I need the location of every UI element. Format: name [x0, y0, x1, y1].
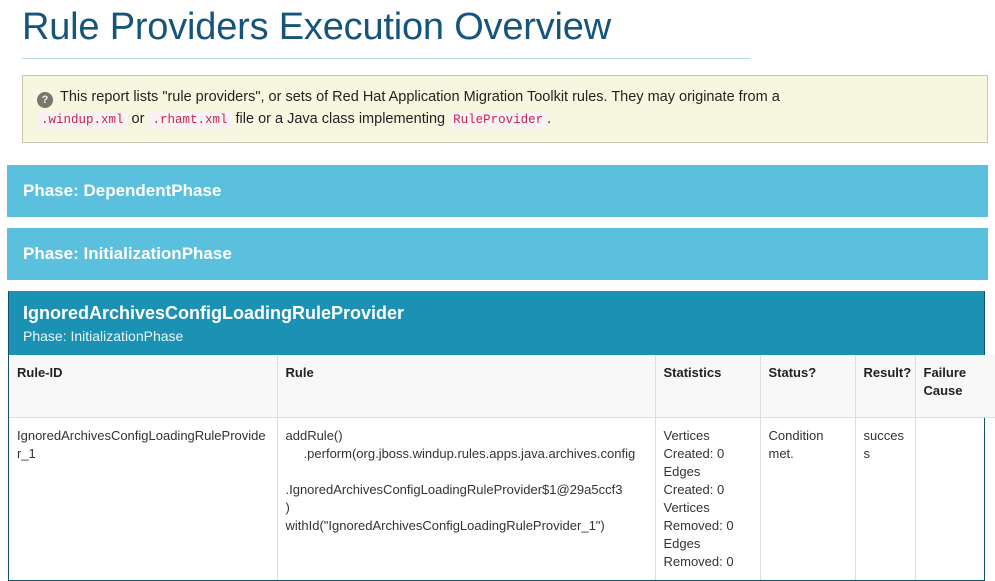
column-header-rule-id: Rule-ID	[9, 355, 277, 418]
stat-vertices-removed: Vertices Removed: 0	[664, 499, 751, 535]
table-row: IgnoredArchivesConfigLoadingRuleProvider…	[9, 418, 995, 580]
column-header-statistics: Statistics	[655, 355, 760, 418]
rule-provider-panel: IgnoredArchivesConfigLoadingRuleProvider…	[8, 291, 985, 580]
column-header-failure-cause: Failure Cause	[915, 355, 995, 418]
banner-spacer	[0, 217, 995, 228]
note-text-part-4: .	[547, 111, 551, 127]
info-note-box: ?This report lists "rule providers", or …	[22, 75, 988, 143]
phase-banner-label: Phase: DependentPhase	[23, 181, 221, 200]
cell-result: success	[855, 418, 915, 580]
note-text-part-3: file or a Java class implementing	[236, 111, 446, 127]
rules-table-head: Rule-ID Rule Statistics Status? Result? …	[9, 355, 995, 418]
note-text-part-2: or	[132, 111, 145, 127]
stat-vertices-created: Vertices Created: 0	[664, 427, 751, 463]
note-text-part-1: This report lists "rule providers", or s…	[60, 89, 780, 105]
rule-provider-name: IgnoredArchivesConfigLoadingRuleProvider	[23, 302, 970, 325]
rule-source-text: addRule() .perform(org.jboss.windup.rule…	[286, 427, 646, 535]
cell-statistics: Vertices Created: 0 Edges Created: 0 Ver…	[655, 418, 760, 580]
rules-table-body: IgnoredArchivesConfigLoadingRuleProvider…	[9, 418, 995, 580]
rule-provider-header[interactable]: IgnoredArchivesConfigLoadingRuleProvider…	[9, 291, 984, 355]
rhamt-xml-code-tag: .rhamt.xml	[148, 111, 231, 129]
table-header-row: Rule-ID Rule Statistics Status? Result? …	[9, 355, 995, 418]
cell-rule: addRule() .perform(org.jboss.windup.rule…	[277, 418, 655, 580]
stat-edges-removed: Edges Removed: 0	[664, 535, 751, 571]
phase-banner-label: Phase: InitializationPhase	[23, 244, 232, 263]
page-title: Rule Providers Execution Overview	[0, 0, 995, 58]
rules-table: Rule-ID Rule Statistics Status? Result? …	[9, 355, 995, 580]
column-header-status: Status?	[760, 355, 855, 418]
cell-failure-cause	[915, 418, 995, 580]
phase-banner-dependent[interactable]: Phase: DependentPhase	[7, 165, 988, 217]
cell-rule-id: IgnoredArchivesConfigLoadingRuleProvider…	[9, 418, 277, 580]
phase-banner-initialization[interactable]: Phase: InitializationPhase	[7, 228, 988, 280]
stat-edges-created: Edges Created: 0	[664, 463, 751, 499]
column-header-rule: Rule	[277, 355, 655, 418]
question-mark-icon: ?	[37, 92, 53, 108]
title-underline	[22, 58, 750, 59]
rule-provider-phase: Phase: InitializationPhase	[23, 327, 970, 345]
rule-provider-code-tag: RuleProvider	[449, 111, 547, 129]
column-header-result: Result?	[855, 355, 915, 418]
report-page: Rule Providers Execution Overview ?This …	[0, 0, 995, 552]
cell-status: Condition met.	[760, 418, 855, 580]
windup-xml-code-tag: .windup.xml	[37, 111, 128, 129]
